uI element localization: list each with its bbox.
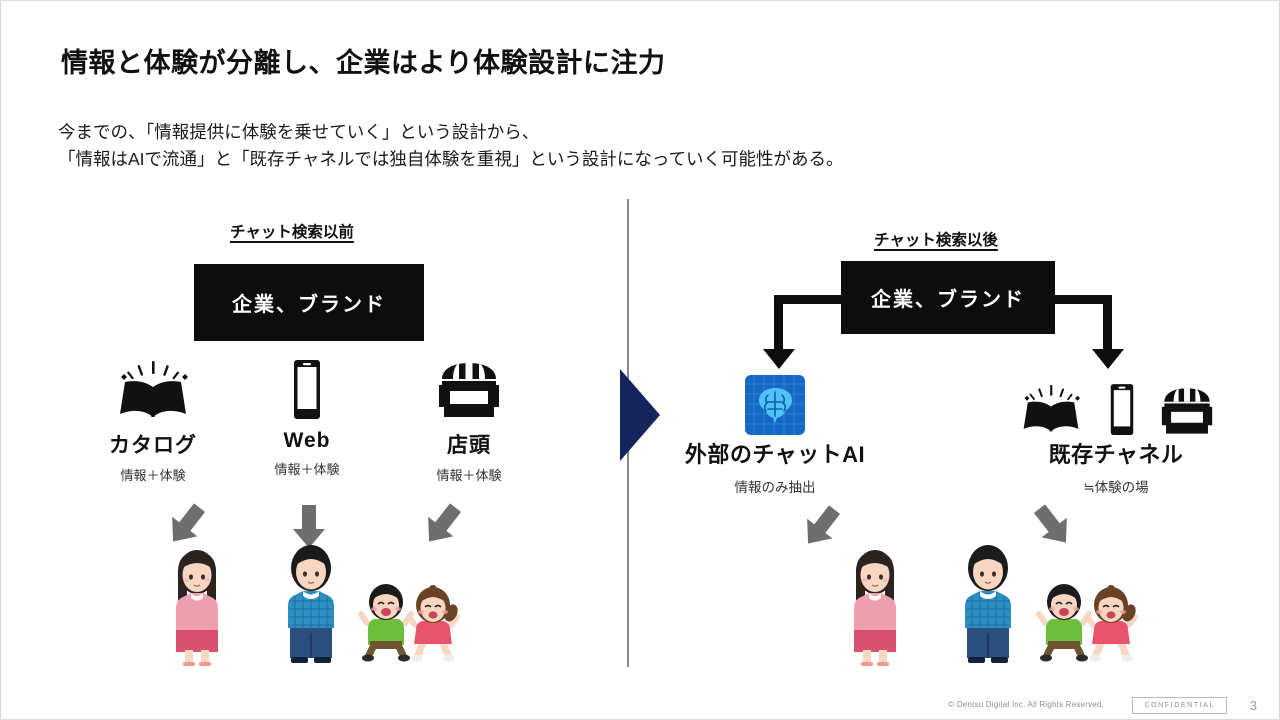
flow-arrow-store-icon [419, 501, 465, 549]
connector-right-vertical [1103, 295, 1112, 351]
children-group-after [1037, 581, 1145, 667]
group-ai-sub: 情報のみ抽出 [677, 476, 873, 496]
channel-web-label: Web [247, 429, 367, 453]
connector-right-arrowhead-icon [1092, 349, 1124, 369]
channel-catalog: カタログ 情報＋体験 [93, 359, 213, 484]
brand-box-before: 企業、ブランド [194, 264, 424, 341]
flow-arrow-channels-icon [1029, 501, 1077, 551]
person-woman-after [847, 546, 903, 666]
open-book-sparkle-icon-small [1017, 381, 1085, 437]
person-man-before [282, 541, 340, 667]
subtitle-line-2: 「情報はAIで流通」と「既存チャネルでは独自体験を重視」という設計になっていく可… [58, 146, 843, 173]
channel-store-label: 店頭 [409, 429, 529, 459]
flow-arrow-ai-icon [798, 503, 844, 551]
person-woman-before [169, 546, 225, 666]
channel-catalog-sub: 情報＋体験 [93, 465, 213, 484]
storefront-icon [409, 359, 529, 421]
group-channels-sub: ≒体験の場 [976, 476, 1256, 496]
slide-footer: © Dentsu Digital Inc. All Rights Reserve… [1, 689, 1279, 719]
section-heading-after: チャット検索以後 [874, 228, 998, 250]
open-book-sparkle-icon [93, 359, 213, 421]
connector-left-horizontal [774, 295, 844, 304]
page-title: 情報と体験が分離し、企業はより体験設計に注力 [61, 41, 665, 80]
channel-store: 店頭 情報＋体験 [409, 359, 529, 484]
connector-left-arrowhead-icon [763, 349, 795, 369]
existing-channels-icons [976, 373, 1256, 437]
connector-left-vertical [774, 295, 783, 351]
copyright-text: © Dentsu Digital Inc. All Rights Reserve… [948, 700, 1104, 709]
page-subtitle: 今までの、「情報提供に体験を乗せていく」という設計から、 「情報はAIで流通」と… [58, 119, 843, 173]
person-man-after [959, 541, 1017, 667]
group-ai-label: 外部のチャットAI [677, 437, 873, 469]
slide-canvas: 情報と体験が分離し、企業はより体験設計に注力 今までの、「情報提供に体験を乗せて… [0, 0, 1280, 720]
group-channels-label: 既存チャネル [976, 437, 1256, 469]
group-existing-channels: 既存チャネル ≒体験の場 [976, 373, 1256, 496]
subtitle-line-1: 今までの、「情報提供に体験を乗せていく」という設計から、 [58, 119, 843, 146]
flow-arrow-catalog-icon [163, 501, 209, 549]
storefront-icon-small [1159, 385, 1215, 437]
channel-store-sub: 情報＋体験 [409, 465, 529, 484]
section-heading-before: チャット検索以前 [230, 220, 354, 242]
channel-web-sub: 情報＋体験 [247, 459, 367, 478]
confidential-badge: CONFIDENTIAL [1132, 697, 1227, 714]
page-number: 3 [1250, 698, 1257, 713]
brand-box-after: 企業、ブランド [841, 261, 1055, 334]
channel-web: Web 情報＋体験 [247, 359, 367, 478]
smartphone-icon-small [1103, 383, 1141, 437]
smartphone-icon [247, 359, 367, 421]
transition-arrow-icon [620, 369, 660, 461]
group-external-chat-ai: 外部のチャットAI 情報のみ抽出 [677, 373, 873, 496]
channel-catalog-label: カタログ [93, 429, 213, 459]
children-group-before [359, 581, 467, 667]
ai-brain-icon [677, 373, 873, 437]
